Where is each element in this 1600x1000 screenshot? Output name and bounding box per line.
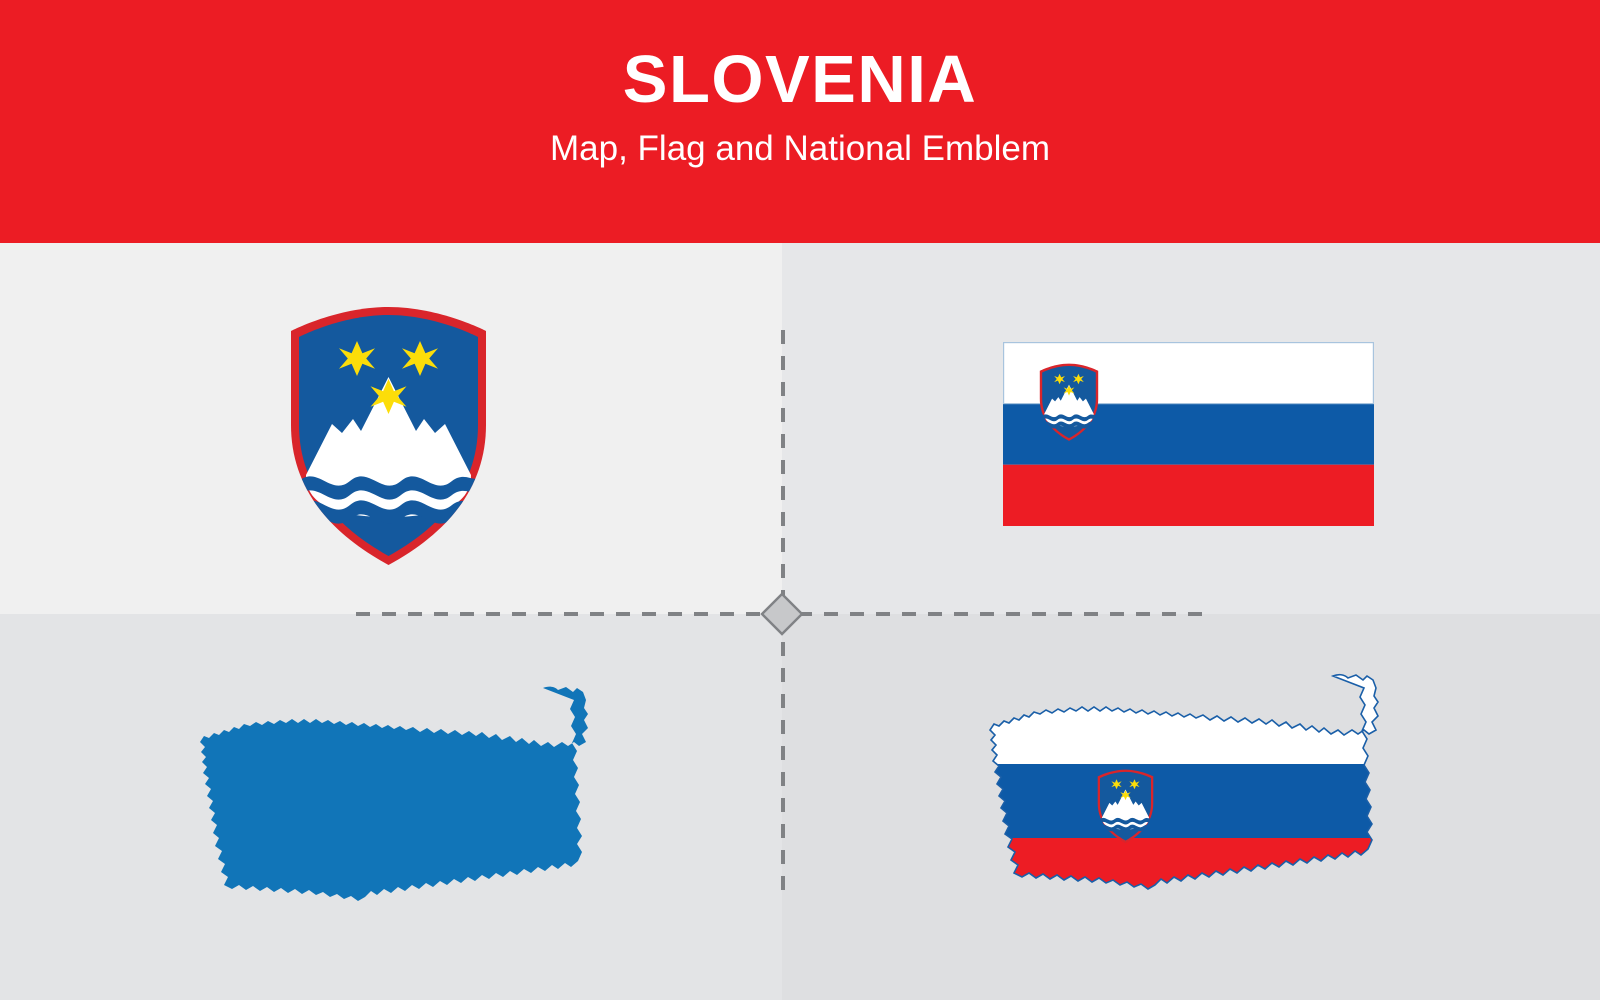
header-banner: SLOVENIA Map, Flag and National Emblem: [0, 0, 1600, 243]
map-slovenia-plain: [196, 666, 592, 934]
diamond-icon: [760, 592, 804, 636]
mapflag-band-red: [986, 838, 1382, 936]
page-subtitle: Map, Flag and National Emblem: [0, 131, 1600, 166]
page-title: SLOVENIA: [0, 46, 1600, 113]
national-flag: [1003, 342, 1374, 526]
map-flag-bands: [986, 654, 1382, 936]
map-slovenia-flag: [986, 654, 1382, 936]
flag-band-red: [1003, 465, 1374, 526]
coat-of-arms-emblem: [285, 305, 492, 567]
poster-canvas: SLOVENIA Map, Flag and National Emblem: [0, 0, 1600, 1000]
mapflag-band-blue: [986, 764, 1382, 838]
mapflag-band-white: [986, 654, 1382, 764]
map-silhouette-fill: [200, 687, 588, 901]
